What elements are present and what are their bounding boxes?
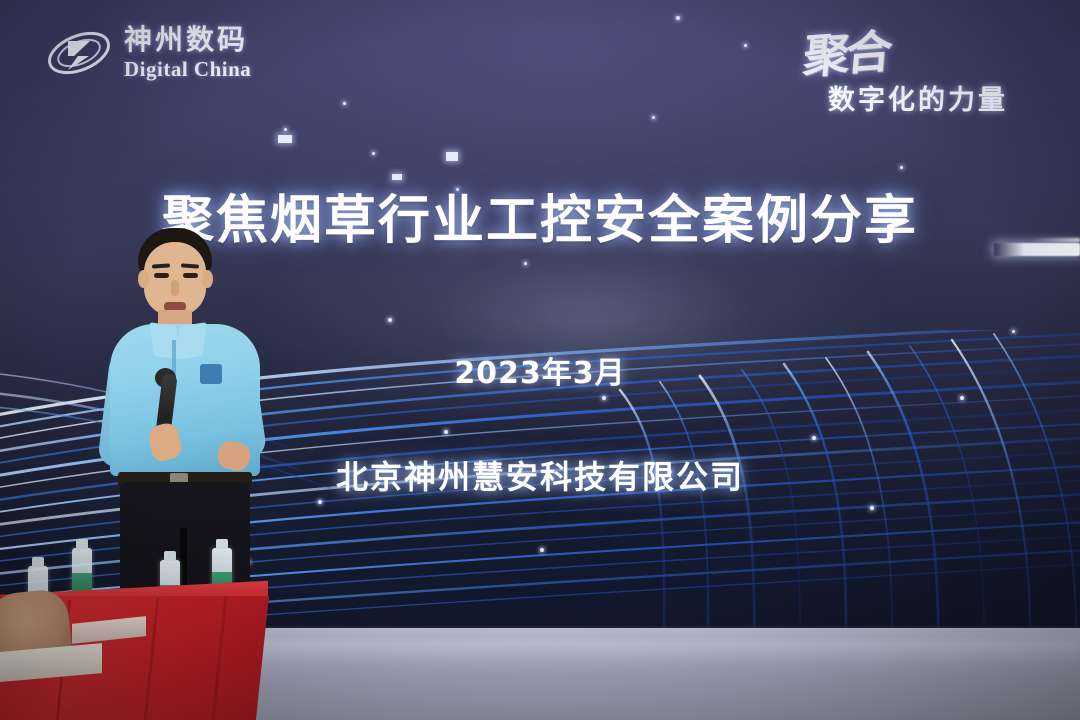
speaker-ear-left bbox=[138, 270, 149, 288]
speaker-collar-right bbox=[175, 322, 206, 360]
event-calligraphy: 聚合 bbox=[801, 15, 892, 87]
light-particle bbox=[812, 436, 816, 440]
event-tagline: 数字化的力量 bbox=[828, 78, 1008, 117]
brand-name-cn: 神州数码 bbox=[124, 26, 251, 54]
light-particle bbox=[372, 152, 375, 155]
bottle-cap bbox=[216, 539, 228, 549]
brand-name-en: Digital China bbox=[124, 59, 251, 80]
light-particle bbox=[744, 44, 747, 47]
event-mark: 聚合 数字化的力量 bbox=[786, 18, 1056, 118]
speaker-chest-logo bbox=[200, 364, 222, 384]
light-particle bbox=[676, 16, 680, 20]
speaker-eye-right bbox=[183, 273, 198, 278]
light-particle bbox=[388, 318, 392, 322]
light-particle bbox=[602, 396, 606, 400]
speaker-ear-right bbox=[202, 270, 213, 288]
light-particle bbox=[524, 262, 527, 265]
light-block-particle bbox=[446, 152, 458, 161]
conference-photo: 神州数码 Digital China 聚合 数字化的力量 聚焦烟草行业工控安全案… bbox=[0, 0, 1080, 720]
speaker-nose bbox=[171, 280, 179, 296]
light-particle bbox=[870, 506, 874, 510]
light-particle bbox=[652, 116, 655, 119]
light-particle bbox=[284, 128, 287, 131]
bottle-cap bbox=[32, 557, 44, 567]
light-block-particle bbox=[278, 135, 292, 143]
light-particle bbox=[540, 548, 544, 552]
bottle-cap bbox=[76, 539, 88, 549]
bottle-cap bbox=[164, 551, 176, 561]
stage-floor-sheen bbox=[250, 640, 1080, 666]
speaker-figure bbox=[92, 228, 282, 628]
light-particle bbox=[960, 396, 964, 400]
swirl-logo-icon bbox=[44, 22, 114, 84]
brand-logo: 神州数码 Digital China bbox=[44, 22, 251, 84]
light-particle bbox=[444, 430, 448, 434]
light-particle bbox=[900, 166, 903, 169]
light-particle bbox=[318, 500, 322, 504]
light-particle bbox=[343, 102, 346, 105]
speaker-eye-left bbox=[154, 273, 169, 278]
light-particle bbox=[1012, 330, 1015, 333]
